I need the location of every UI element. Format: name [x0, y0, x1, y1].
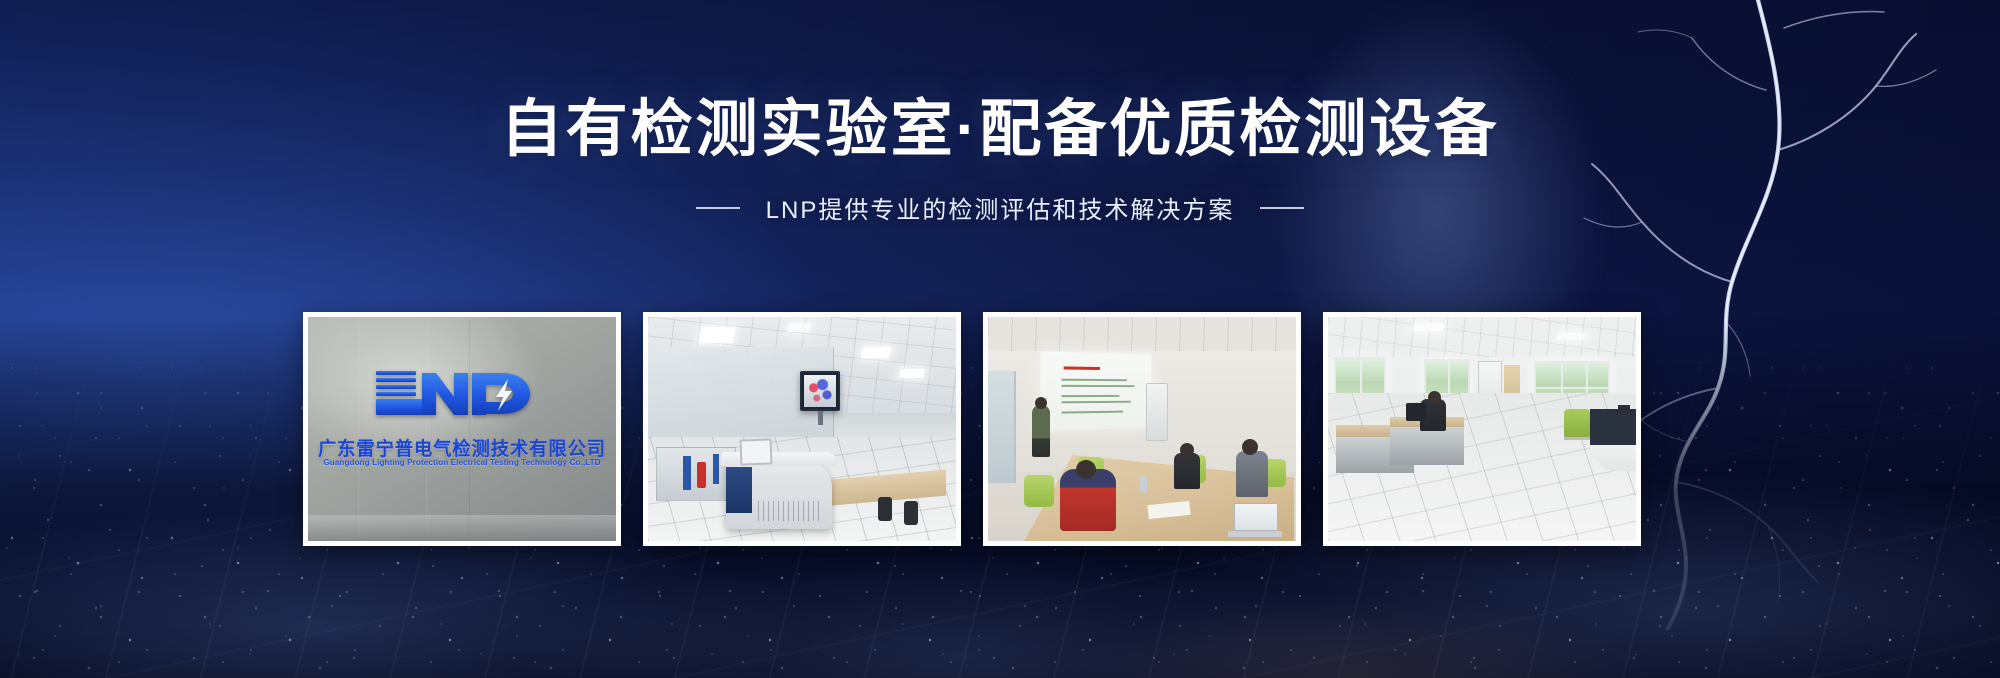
console-blue-panel [726, 467, 752, 513]
photo-card-company-sign[interactable]: 广东雷宁普电气检测技术有限公司 Guangdong Lighting Prote… [303, 312, 621, 546]
equipment-red-part [697, 462, 706, 488]
presenter-head [1035, 397, 1047, 409]
office-ceiling-light-2 [1557, 333, 1585, 340]
banner-headline: 自有检测实验室·配备优质检测设备 [0, 96, 2000, 164]
hero-banner: 自有检测实验室·配备优质检测设备 LNP提供专业的检测评估和技术解决方案 [0, 0, 2000, 678]
console-vent-grille [758, 501, 820, 521]
thermos-cup [1140, 475, 1147, 493]
meeting-door [988, 371, 1016, 483]
laptop-computer [1228, 503, 1282, 537]
office-desk-2-body [1390, 427, 1464, 465]
wall-base-trim [308, 515, 616, 541]
company-name-en: Guangdong Lighting Protection Electrical… [310, 458, 615, 467]
company-name-cn: 广东雷宁普电气检测技术有限公司 [314, 434, 610, 461]
tv-mount-arm [818, 411, 823, 425]
attendee-right [1236, 451, 1268, 497]
lab-chair-1 [878, 497, 892, 521]
meeting-chair-2 [1024, 475, 1054, 507]
ceiling-light-3 [899, 369, 925, 378]
equipment-blue-part-2 [713, 454, 719, 484]
photo-card-meeting-room[interactable] [983, 312, 1301, 546]
attendee-left-head [1180, 443, 1194, 457]
photo-testing-laboratory [648, 317, 956, 541]
lab-chair-2 [904, 501, 918, 525]
slide-text-line-1 [1062, 379, 1127, 382]
attendee-right-head [1242, 439, 1258, 455]
slide-text-line-2 [1062, 385, 1135, 387]
photo-company-sign-wall: 广东雷宁普电气检测技术有限公司 Guangdong Lighting Prote… [308, 317, 616, 541]
lnp-logo-icon [362, 363, 562, 425]
console-monitor [740, 438, 773, 465]
slide-text-line-4 [1062, 401, 1131, 404]
attendee-left [1174, 453, 1200, 489]
equipment-blue-part [683, 456, 691, 490]
attendee-front-head [1076, 460, 1096, 479]
slide-text-line-5 [1062, 411, 1124, 414]
photo-strip: 广东雷宁普电气检测技术有限公司 Guangdong Lighting Prote… [303, 312, 1697, 546]
projection-screen [1041, 351, 1151, 430]
photo-meeting-room [988, 317, 1296, 541]
photo-card-office[interactable] [1323, 312, 1641, 546]
window-transom [1536, 387, 1608, 389]
ceiling-light-1 [698, 327, 735, 343]
lab-control-console [726, 461, 832, 529]
slide-text-line-3 [1062, 395, 1120, 397]
subtitle-row: LNP提供专业的检测评估和技术解决方案 [0, 190, 2000, 225]
office-green-chair [1564, 409, 1590, 439]
banner-subtitle: LNP提供专业的检测评估和技术解决方案 [766, 190, 1235, 225]
wall-monitor-tv [800, 371, 840, 411]
air-conditioner [1146, 383, 1168, 441]
laptop-screen [1234, 503, 1278, 531]
tv-screen [804, 375, 836, 407]
console-worktop [720, 452, 838, 466]
slide-title-line [1064, 366, 1100, 370]
office-computer-monitor [1406, 403, 1426, 421]
presenter-person [1032, 405, 1050, 457]
rule-right-icon [1260, 207, 1304, 209]
headline-block: 自有检测实验室·配备优质检测设备 LNP提供专业的检测评估和技术解决方案 [0, 96, 2000, 225]
office-ceiling-light-1 [1413, 323, 1445, 331]
office-worker-head [1428, 391, 1441, 404]
rule-left-icon [696, 207, 740, 209]
wall-panel-seams [308, 317, 616, 541]
reception-monitor [1618, 405, 1630, 414]
ceiling-light-2 [861, 347, 891, 358]
ceiling-light-4 [787, 323, 811, 332]
chair-base-rail [1564, 437, 1592, 440]
photo-card-laboratory[interactable] [643, 312, 961, 546]
reception-counter [1590, 409, 1636, 471]
photo-office-area [1328, 317, 1636, 541]
office-ceiling [1328, 317, 1636, 357]
meeting-ceiling [988, 317, 1296, 351]
laptop-keyboard [1228, 531, 1282, 537]
